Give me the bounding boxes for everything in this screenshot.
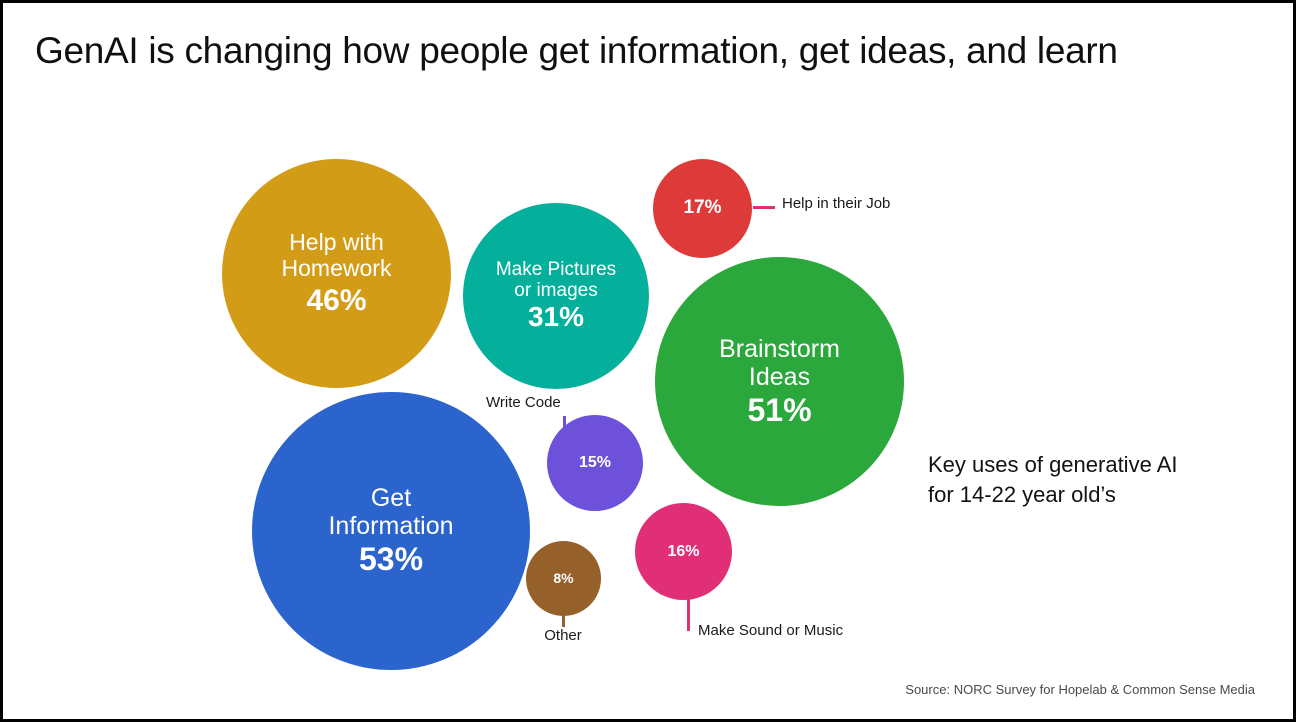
bubble-make-sound[interactable]: 16% [635,503,732,600]
callout-label-write-code: Write Code [486,394,561,412]
bubble-value-make-pictures: 31% [528,302,584,333]
bubble-value-brainstorm-ideas: 51% [747,393,811,428]
bubble-value-make-sound: 16% [667,543,699,561]
bubble-value-help-in-job: 17% [683,198,721,219]
leader-line-other [562,613,565,627]
bubble-help-with-homework[interactable]: Help with Homework 46% [222,159,451,388]
bubble-brainstorm-ideas[interactable]: Brainstorm Ideas 51% [655,257,904,506]
bubble-make-pictures[interactable]: Make Pictures or images 31% [463,203,649,389]
bubble-value-write-code: 15% [579,454,611,472]
callout-label-other: Other [544,627,582,645]
bubble-get-information[interactable]: Get Information 53% [252,392,530,670]
source-note: Source: NORC Survey for Hopelab & Common… [905,682,1255,697]
bubble-value-get-information: 53% [359,542,423,577]
bubble-write-code[interactable]: 15% [547,415,643,511]
bubble-other[interactable]: 8% [526,541,601,616]
bubble-label-brainstorm-ideas: Brainstorm Ideas [719,335,840,391]
callout-label-help-in-job: Help in their Job [782,195,890,213]
bubble-value-other: 8% [553,571,573,586]
bubble-value-help-with-homework: 46% [306,284,366,317]
leader-line-help-in-job [753,206,775,209]
bubble-label-get-information: Get Information [328,484,453,540]
leader-line-make-sound [687,597,690,631]
chart-caption: Key uses of generative AI for 14-22 year… [928,450,1258,510]
bubble-chart: Help with Homework 46% Make Pictures or … [3,3,1296,722]
bubble-help-in-job[interactable]: 17% [653,159,752,258]
bubble-label-help-with-homework: Help with Homework [282,230,392,282]
callout-label-make-sound: Make Sound or Music [698,622,843,640]
slide-frame: GenAI is changing how people get informa… [0,0,1296,722]
bubble-label-make-pictures: Make Pictures or images [496,259,616,302]
